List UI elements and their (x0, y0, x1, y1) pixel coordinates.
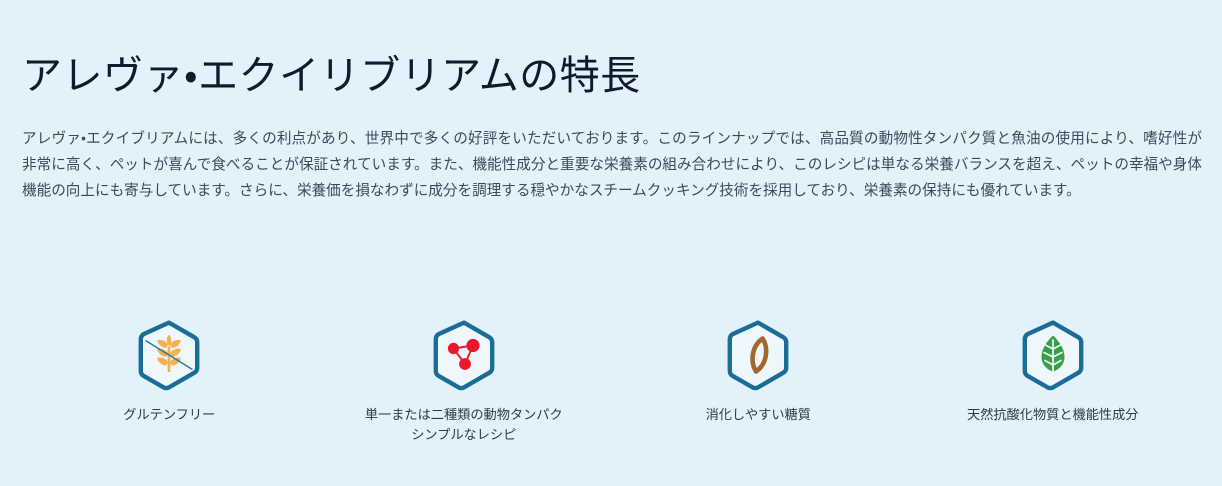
feature-item-digestible-carbs: 消化しやすい糖質 (611, 318, 906, 425)
feature-label: 単一または二種類の動物タンパク シンプルなレシピ (365, 405, 563, 445)
feature-list: グルテンフリー 単一または二種類の動物タンパク シンプルなレシピ (22, 318, 1200, 445)
wheat-crossed-out-icon (132, 318, 206, 392)
protein-molecule-icon (427, 318, 501, 392)
page-title: アレヴァ・エクイリブリアムの特長 (22, 0, 1200, 100)
feature-item-animal-protein: 単一または二種類の動物タンパク シンプルなレシピ (317, 318, 612, 445)
feature-label: 消化しやすい糖質 (706, 405, 811, 425)
feature-item-gluten-free: グルテンフリー (22, 318, 317, 425)
grain-kernel-icon (721, 318, 795, 392)
intro-paragraph: アレヴァ・エクイブリアムには、多くの利点があり、世界中で多くの好評をいただいてお… (22, 100, 1202, 204)
feature-label: グルテンフリー (123, 405, 215, 425)
leaf-icon (1016, 318, 1090, 392)
features-section: アレヴァ・エクイリブリアムの特長 アレヴァ・エクイブリアムには、多くの利点があり… (0, 0, 1222, 486)
feature-item-antioxidants: 天然抗酸化物質と機能性成分 (906, 318, 1201, 425)
feature-label: 天然抗酸化物質と機能性成分 (967, 405, 1138, 425)
